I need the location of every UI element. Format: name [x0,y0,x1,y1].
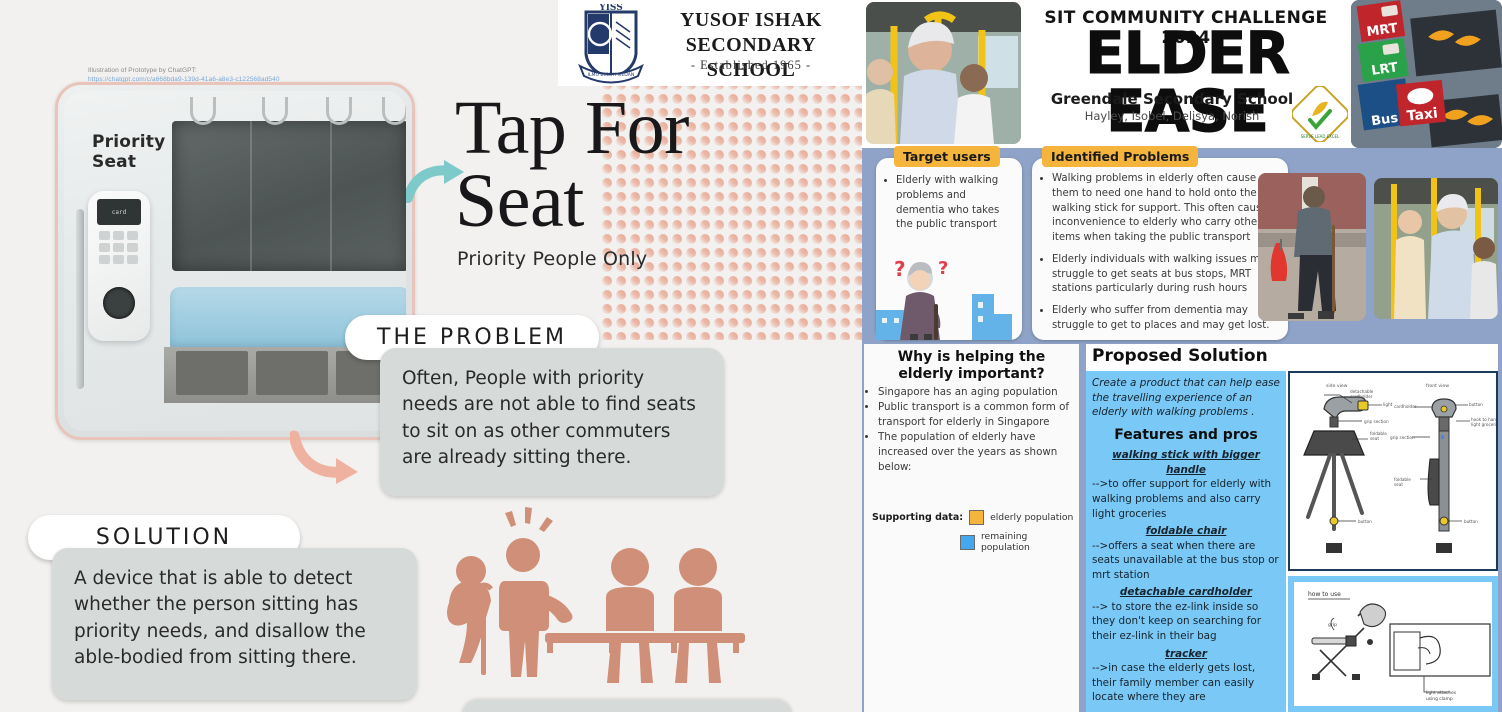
supporting-data-label: Supporting data: [872,512,963,523]
feature-desc: -->to offer support for elderly with wal… [1092,477,1280,521]
svg-text:YISS: YISS [598,4,622,13]
svg-text:?: ? [938,258,948,279]
svg-text:button: button [1464,519,1478,524]
features-header: Features and pros [1092,426,1280,446]
elder-ease-poster: SIT COMMUNITY CHALLENGE 2024 ELDER EASE … [862,0,1502,712]
how-to-use-sketch-panel: how to use grip [1288,576,1498,712]
mrt-lrt-taxi-bus-signs-photo: MRT LRT Bus Taxi [1351,0,1502,148]
identified-problems-header: Identified Problems [1042,146,1198,167]
elderly-man-on-bus-photo [866,2,1021,144]
school-name-line1: YUSOF ISHAK [646,8,856,33]
elderly-priority-seat-pictogram [425,505,755,685]
page-title: Tap For Seat [455,92,875,238]
feature-name: walking stick with bigger handle [1092,448,1280,477]
feature-desc: -->offers a seat when there are seats un… [1092,539,1280,583]
prototype-image: PrioritySeat card [64,91,406,431]
elderly-man-standing-in-crowded-bus-photo [1374,178,1498,319]
title-line-1: Tap For [455,92,875,165]
legend-label-remaining: remaining population [981,531,1079,553]
feature-name: foldable chair [1092,524,1280,539]
why-helping-elderly-section: Why is helping the elderly important? Si… [864,344,1079,712]
sketch-label-side-view: side view [1326,383,1348,389]
sketch-title: how to use [1308,591,1341,598]
train-window [172,121,406,271]
feature-desc: --> to store the ez-link inside so they … [1092,600,1280,644]
feature-name: tracker [1092,647,1280,662]
poster-team-members: Hayley, Isobel, Delisya, Norish [1022,109,1322,123]
svg-text:seat: seat [1394,482,1403,487]
device-reader-icon [103,287,135,319]
school-crest-icon: YISS ILMU BULUH MEDAN [576,4,646,84]
svg-text:light attaches: light attaches [1426,690,1457,696]
list-item: Singapore has an aging population [878,385,1071,400]
crest-motto: ILMU BULUH MEDAN [588,72,635,78]
how-to-use-sketch: how to use grip [1294,582,1492,706]
next-card-partial [462,700,792,712]
list-item: The population of elderly have increased… [878,430,1071,474]
proposed-solution-section: Proposed Solution Create a product that … [1086,344,1498,712]
walking-stick-side-and-front-view-sketch: side view front view [1288,371,1498,571]
title-line-2: Seat [455,165,875,238]
legend-swatch-remaining [960,535,975,550]
device-keypad [99,231,138,264]
legend-label-elderly: elderly population [990,512,1073,523]
target-users-header: Target users [894,146,1000,167]
train-rail [76,209,84,389]
svg-text:cardholder: cardholder [1350,394,1373,399]
pink-arrow-icon [290,430,362,486]
svg-text:button: button [1469,402,1483,407]
list-item: Public transport is a common form of tra… [878,400,1071,429]
svg-text:?: ? [894,257,906,281]
priority-seat-label: PrioritySeat [92,133,170,172]
svg-text:Taxi: Taxi [1406,105,1439,124]
confused-elderly-woman-with-cane-illustration: ? ? [876,248,1022,340]
feature-desc: -->in case the elderly gets lost, their … [1092,661,1280,705]
svg-text:using clamp: using clamp [1426,696,1453,702]
target-users-card: Elderly with walking problems and dement… [876,158,1022,340]
svg-text:grip section: grip section [1390,435,1415,440]
target-users-bullets: Elderly with walking problems and dement… [876,158,1022,233]
school-header: YISS ILMU BULUH MEDAN YUSOF ISHAK SECOND… [558,0,862,86]
svg-text:seat: seat [1370,436,1379,441]
identified-problems-card: Walking problems in elderly often cause … [1032,158,1288,340]
why-section-bullets: Singapore has an aging population Public… [864,385,1079,475]
poster-header: SIT COMMUNITY CHALLENGE 2024 ELDER EASE … [862,0,1502,148]
legend-row-remaining: remaining population [864,525,1079,553]
left-presentation-slide: Illustration of Prototype by ChatGPT: ht… [0,0,862,712]
hand-grip-icon [326,97,352,125]
list-item: Elderly with walking problems and dement… [896,174,1014,233]
svg-text:grip section: grip section [1364,419,1389,424]
tap-card-device: card [88,191,150,341]
device-screen: card [97,199,141,225]
elderly-man-walking-with-cane-and-groceries-photo [1258,173,1366,321]
list-item: Elderly who suffer from dementia may str… [1052,304,1278,334]
solution-intro: Create a product that can help ease the … [1092,376,1280,420]
credit-line: Illustration of Prototype by ChatGPT: [88,67,197,74]
svg-text:cardholder: cardholder [1394,404,1417,409]
feature-name: detachable cardholder [1092,585,1280,600]
hand-grip-icon [262,97,288,125]
hand-grip-icon [382,97,406,125]
sketch-label-front-view: front view [1426,383,1449,389]
solution-body-card: A device that is able to detect whether … [52,548,417,700]
problem-body-card: Often, People with priority needs are no… [380,348,724,496]
why-section-title: Why is helping the elderly important? [864,344,1079,385]
list-item: Walking problems in elderly often cause … [1052,172,1278,246]
hand-grip-icon [190,97,216,125]
svg-text:button: button [1358,519,1372,524]
serve-lead-excel-logo-icon: SERVE LEAD EXCEL [1292,86,1348,142]
svg-text:grip: grip [1328,622,1337,628]
poster-school-name: Greendale Secondary School [1022,90,1322,108]
proposed-solution-title: Proposed Solution [1086,344,1498,369]
school-established: - Established 1965 - [646,58,856,73]
supporting-data-row: Supporting data: elderly population [864,504,1079,525]
prototype-illustration-card: PrioritySeat card [55,82,415,440]
page-subtitle: Priority People Only [457,248,647,270]
identified-problems-bullets: Walking problems in elderly often cause … [1032,158,1288,334]
logo-caption: SERVE LEAD EXCEL [1301,134,1340,139]
features-and-pros-panel: Create a product that can help ease the … [1086,371,1286,712]
list-item: Elderly individuals with walking issues … [1052,253,1278,297]
legend-swatch-elderly [969,510,984,525]
svg-text:light: light [1383,402,1393,407]
svg-text:light groceries: light groceries [1471,422,1496,427]
